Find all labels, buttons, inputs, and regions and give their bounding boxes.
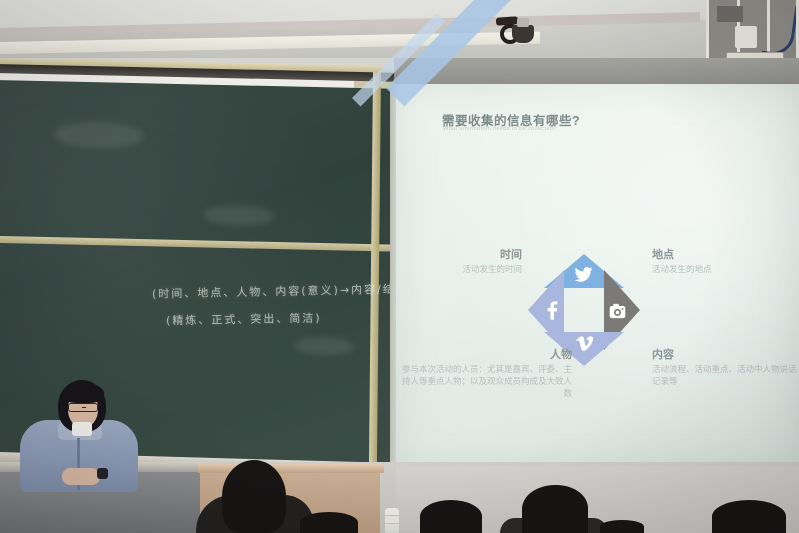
audience-head bbox=[222, 460, 286, 533]
screen-housing bbox=[394, 58, 799, 84]
slide-quadrant-people: 人物 参与本次活动的人员：尤其是嘉宾、评委、主持人等重点人物；以及观众成员构成及… bbox=[396, 349, 572, 400]
quadrant-body: 参与本次活动的人员：尤其是嘉宾、评委、主持人等重点人物；以及观众成员构成及大致人… bbox=[396, 363, 572, 400]
water-bottle-label bbox=[385, 515, 399, 524]
blackboard-handwriting-line-2: (精炼、正式、突出、简洁) bbox=[166, 310, 322, 329]
facebook-icon bbox=[544, 300, 560, 320]
chalk-smudge bbox=[204, 205, 274, 227]
chalk-smudge bbox=[54, 121, 144, 149]
audience-head bbox=[420, 500, 482, 533]
audience-head bbox=[600, 520, 644, 533]
quadrant-heading: 地点 bbox=[652, 249, 782, 263]
quadrant-heading: 内容 bbox=[652, 349, 799, 363]
quadrant-body: 活动发生的地点 bbox=[652, 263, 782, 275]
audience-head bbox=[712, 500, 786, 533]
audience-head bbox=[300, 512, 358, 533]
presenter-bangs bbox=[62, 383, 104, 403]
presenter-hands bbox=[62, 468, 100, 485]
presenter-inner-shirt bbox=[72, 422, 92, 436]
instagram-icon bbox=[608, 302, 626, 320]
dome-camera-icon bbox=[512, 25, 534, 43]
quadrant-body: 活动流程、活动重点、活动中人物讲话记录等 bbox=[652, 363, 799, 388]
chalk-smudge bbox=[294, 337, 354, 356]
glasses-icon bbox=[68, 403, 98, 412]
front-desk-edge bbox=[198, 464, 384, 473]
vimeo-icon bbox=[575, 334, 593, 352]
cage-device bbox=[717, 6, 743, 22]
quadrant-heading: 人物 bbox=[396, 349, 572, 363]
slide-quadrant-place: 地点 活动发生的地点 bbox=[652, 249, 782, 275]
audience-head bbox=[522, 485, 588, 533]
classroom-photo: (时间、地点、人物、内容(意义)→内容/结构) (精炼、正式、突出、简洁) 需要… bbox=[0, 0, 799, 533]
twitter-icon bbox=[573, 266, 593, 282]
cage-device bbox=[735, 26, 757, 48]
wristwatch-icon bbox=[97, 468, 108, 479]
projected-slide: 需要收集的信息有哪些? What information needs to be… bbox=[404, 94, 794, 424]
slide-subtitle: What information needs to be collected? bbox=[443, 126, 557, 132]
quadrant-body: 活动发生的时间 bbox=[422, 263, 522, 275]
slide-quadrant-content: 内容 活动流程、活动重点、活动中人物讲话记录等 bbox=[652, 349, 799, 387]
slide-quadrant-time: 时间 活动发生的时间 bbox=[422, 249, 522, 275]
cage-cable bbox=[762, 2, 799, 58]
quadrant-heading: 时间 bbox=[422, 249, 522, 263]
